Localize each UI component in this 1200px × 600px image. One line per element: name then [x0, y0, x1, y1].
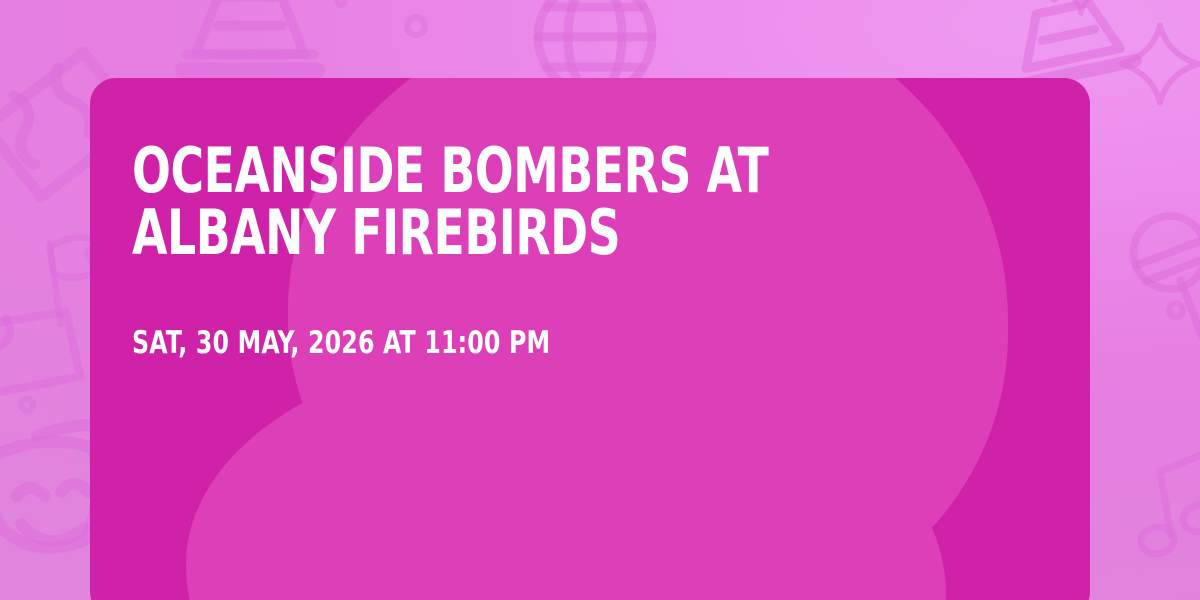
- circle-dot-icon: [18, 396, 36, 414]
- event-card[interactable]: Oceanside Bombers at Albany Firebirds Sa…: [90, 78, 1090, 600]
- event-card-content: Oceanside Bombers at Albany Firebirds Sa…: [132, 140, 1030, 360]
- microphone-icon: [1083, 176, 1200, 366]
- circle-dot-icon: [334, 0, 348, 8]
- event-title: Oceanside Bombers at Albany Firebirds: [132, 140, 868, 264]
- sparkle-icon: [1044, 0, 1118, 24]
- card-watermark-shape: [186, 344, 946, 600]
- event-promo-page: Oceanside Bombers at Albany Firebirds Sa…: [0, 0, 1200, 600]
- circle-dot-icon: [1166, 300, 1186, 320]
- music-note-icon: [1106, 421, 1200, 590]
- sparkle-icon: [1112, 16, 1200, 112]
- event-datetime: Sat, 30 May, 2026 at 11:00 PM: [132, 326, 895, 360]
- circle-dot-icon: [404, 14, 428, 38]
